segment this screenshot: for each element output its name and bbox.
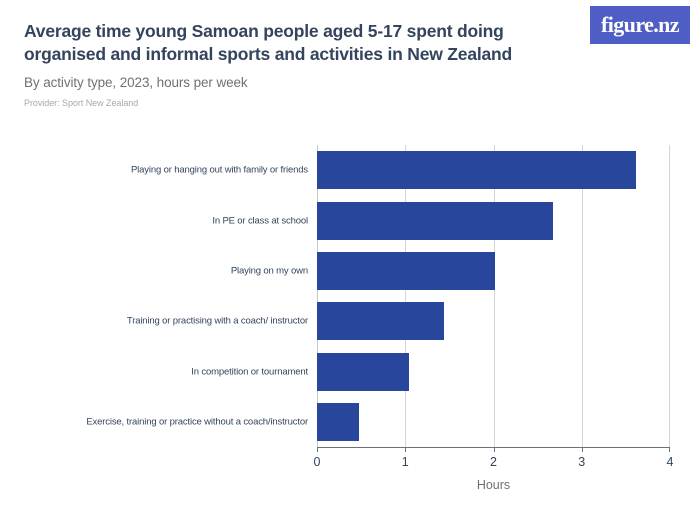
x-tick-2 bbox=[494, 447, 495, 452]
bar[interactable] bbox=[317, 252, 495, 290]
chart-header: Average time young Samoan people aged 5-… bbox=[0, 0, 700, 130]
bar-row[interactable]: In competition or tournament bbox=[317, 353, 670, 391]
y-axis-category-label: Playing or hanging out with family or fr… bbox=[131, 165, 308, 176]
y-axis-category-label: In PE or class at school bbox=[212, 215, 308, 226]
gridline-2 bbox=[494, 145, 495, 447]
bar-chart: Playing or hanging out with family or fr… bbox=[0, 130, 700, 525]
x-tick-label-2: 2 bbox=[490, 455, 497, 469]
x-tick-label-0: 0 bbox=[314, 455, 321, 469]
bar[interactable] bbox=[317, 353, 409, 391]
gridline-3 bbox=[582, 145, 583, 447]
x-tick-label-1: 1 bbox=[402, 455, 409, 469]
gridline-1 bbox=[405, 145, 406, 447]
y-axis-category-label: Playing on my own bbox=[231, 265, 308, 276]
x-tick-3 bbox=[582, 447, 583, 452]
bar-row[interactable]: Training or practising with a coach/ ins… bbox=[317, 302, 670, 340]
bar[interactable] bbox=[317, 202, 553, 240]
plot-area: Playing or hanging out with family or fr… bbox=[317, 145, 670, 447]
bar-row[interactable]: Playing on my own bbox=[317, 252, 670, 290]
bar[interactable] bbox=[317, 302, 444, 340]
x-tick-1 bbox=[405, 447, 406, 452]
bar[interactable] bbox=[317, 403, 359, 441]
x-tick-label-3: 3 bbox=[578, 455, 585, 469]
bar-row[interactable]: In PE or class at school bbox=[317, 202, 670, 240]
bar-row[interactable]: Exercise, training or practice without a… bbox=[317, 403, 670, 441]
gridline-0 bbox=[317, 145, 318, 447]
bar[interactable] bbox=[317, 151, 636, 189]
gridline-4 bbox=[669, 145, 670, 447]
x-tick-label-4: 4 bbox=[667, 455, 674, 469]
x-tick-4 bbox=[669, 447, 670, 452]
x-tick-0 bbox=[317, 447, 318, 452]
y-axis-category-label: Exercise, training or practice without a… bbox=[86, 416, 308, 427]
provider-credit: Provider: Sport New Zealand bbox=[24, 98, 676, 108]
y-axis-category-label: Training or practising with a coach/ ins… bbox=[127, 316, 308, 327]
logo-text: figure.nz bbox=[601, 14, 679, 36]
bar-row[interactable]: Playing or hanging out with family or fr… bbox=[317, 151, 670, 189]
y-axis-category-label: In competition or tournament bbox=[191, 366, 308, 377]
figure-nz-logo[interactable]: figure.nz bbox=[590, 6, 690, 44]
x-axis-title: Hours bbox=[317, 478, 670, 492]
chart-subtitle: By activity type, 2023, hours per week bbox=[24, 75, 676, 90]
page-title: Average time young Samoan people aged 5-… bbox=[24, 20, 524, 67]
